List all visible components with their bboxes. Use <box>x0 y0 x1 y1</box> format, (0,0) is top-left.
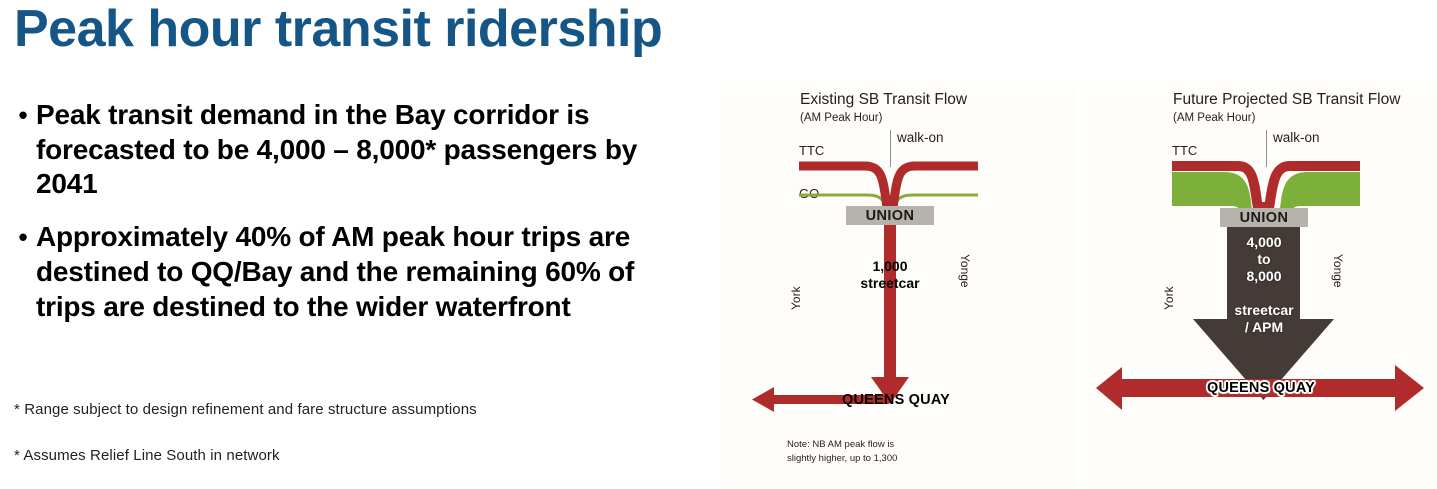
bullet-text: Approximately 40% of AM peak hour trips … <box>36 220 686 324</box>
list-item: • Approximately 40% of AM peak hour trip… <box>10 220 710 324</box>
bullet-text: Peak transit demand in the Bay corridor … <box>36 98 686 202</box>
diagram-future-projected-sb-transit-flow: Future Projected SB Transit Flow (AM Pea… <box>1080 82 1437 489</box>
street-label-york: York <box>789 286 803 310</box>
bullet-marker-icon: • <box>10 98 36 132</box>
list-item: • Peak transit demand in the Bay corrido… <box>10 98 710 202</box>
union-station-box: UNION <box>846 206 934 225</box>
page-title: Peak hour transit ridership <box>14 2 662 57</box>
union-station-box: UNION <box>1220 208 1308 227</box>
queens-quay-label: QUEENS QUAY <box>1207 380 1315 396</box>
street-label-yonge: Yonge <box>1331 254 1345 288</box>
street-label-york: York <box>1162 286 1176 310</box>
footnote-range: * Range subject to design refinement and… <box>14 401 477 418</box>
panel-note: Note: NB AM peak flow is slightly higher… <box>787 438 897 466</box>
queens-quay-label: QUEENS QUAY <box>842 392 950 408</box>
corridor-mode-label: streetcar / APM <box>1214 302 1314 336</box>
diagram-existing-sb-transit-flow: Existing SB Transit Flow (AM Peak Hour) … <box>719 82 1074 489</box>
bullet-list: • Peak transit demand in the Bay corrido… <box>10 98 710 342</box>
corridor-volume-label: 1,000 streetcar <box>840 258 940 292</box>
bullet-marker-icon: • <box>10 220 36 254</box>
future-flow-graphic <box>1080 82 1437 489</box>
corridor-volume-label: 4,000 to 8,000 <box>1214 234 1314 285</box>
street-label-yonge: Yonge <box>958 254 972 288</box>
footnote-assumption: * Assumes Relief Line South in network <box>14 447 280 464</box>
